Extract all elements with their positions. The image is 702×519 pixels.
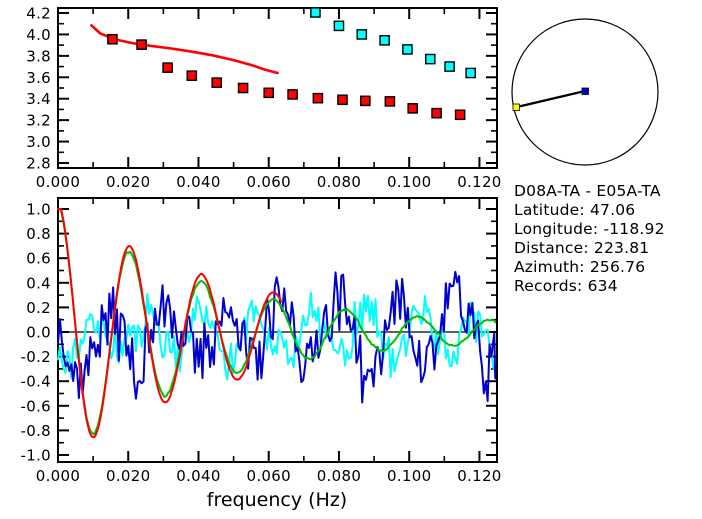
dispersion-axes [58, 8, 497, 168]
correlation-plot: -1.0-0.8-0.6-0.4-0.20.00.20.40.60.81.00.… [21, 198, 502, 511]
data-marker [357, 30, 366, 39]
blue-correlation-trace [58, 272, 495, 403]
data-marker [108, 35, 117, 44]
latitude-row: Latitude: 47.06 [514, 201, 635, 219]
data-marker [403, 45, 412, 54]
x-tick-label: 0.020 [106, 173, 150, 191]
data-marker [338, 95, 347, 104]
data-marker [264, 88, 273, 97]
azimuth-diagram [512, 19, 658, 165]
data-marker [187, 71, 196, 80]
y-tick-label: 0.4 [26, 274, 51, 292]
x-tick-label: 0.040 [176, 467, 220, 485]
y-tick-label: 0.2 [26, 299, 51, 317]
data-marker [238, 83, 247, 92]
y-tick-label: 2.8 [26, 155, 51, 173]
data-marker [466, 68, 475, 77]
x-tick-label: 0.100 [387, 173, 431, 191]
x-tick-label: 0.000 [36, 467, 80, 485]
y-tick-label: 0.8 [26, 225, 51, 243]
distance-row: Distance: 223.81 [514, 239, 649, 257]
azimuth-row: Azimuth: 256.76 [514, 258, 645, 276]
y-tick-label: 3.0 [26, 133, 51, 151]
data-marker [426, 54, 435, 63]
data-marker [212, 78, 221, 87]
y-tick-label: 3.6 [26, 69, 51, 87]
data-marker [334, 21, 343, 30]
y-tick-label: -0.8 [21, 422, 51, 440]
y-tick-label: 3.8 [26, 47, 51, 65]
y-tick-label: 3.4 [26, 90, 51, 108]
station-pair-title: D08A-TA - E05A-TA [514, 182, 661, 200]
dispersion-frame [58, 8, 497, 168]
dispersion-data-points [108, 8, 475, 120]
figure-canvas: 2.83.03.23.43.63.84.04.20.0000.0200.0400… [0, 0, 702, 519]
reference-dispersion-curve [91, 25, 277, 73]
x-axis-label: frequency (Hz) [207, 489, 347, 511]
plot-page: 2.83.03.23.43.63.84.04.20.0000.0200.0400… [0, 0, 702, 519]
x-tick-label: 0.080 [317, 173, 361, 191]
x-tick-label: 0.040 [176, 173, 220, 191]
y-tick-label: 0.6 [26, 250, 51, 268]
dispersion-plot: 2.83.03.23.43.63.84.04.20.0000.0200.0400… [26, 5, 501, 192]
x-tick-label: 0.000 [36, 173, 80, 191]
x-tick-label: 0.120 [457, 467, 501, 485]
data-marker [445, 62, 454, 71]
correlation-traces [58, 209, 495, 437]
x-tick-label: 0.020 [106, 467, 150, 485]
y-tick-label: -0.6 [21, 397, 51, 415]
dispersion-reference-curve [91, 25, 277, 73]
y-tick-label: 4.2 [26, 5, 51, 23]
data-marker [163, 63, 172, 72]
remote-station-dot [513, 104, 520, 111]
y-tick-label: 4.0 [26, 26, 51, 44]
y-tick-label: 1.0 [26, 201, 51, 219]
x-tick-label: 0.060 [246, 467, 290, 485]
x-tick-label: 0.060 [246, 173, 290, 191]
data-marker [313, 94, 322, 103]
longitude-row: Longitude: -118.92 [514, 220, 665, 238]
x-tick-label: 0.080 [317, 467, 361, 485]
center-station-dot [582, 88, 589, 95]
x-tick-label: 0.120 [457, 173, 501, 191]
data-marker [432, 109, 441, 118]
y-tick-label: -0.4 [21, 373, 51, 391]
data-marker [288, 90, 297, 99]
y-tick-label: 0.0 [26, 324, 51, 342]
records-row: Records: 634 [514, 277, 618, 295]
y-tick-label: -0.2 [21, 348, 51, 366]
data-marker [408, 104, 417, 113]
x-tick-label: 0.100 [387, 467, 431, 485]
data-marker [456, 110, 465, 119]
info-panel: D08A-TA - E05A-TA Latitude: 47.06 Longit… [514, 182, 665, 295]
data-marker [385, 97, 394, 106]
data-marker [361, 96, 370, 105]
station-path-line [517, 91, 585, 107]
y-tick-label: 3.2 [26, 112, 51, 130]
data-marker [311, 8, 320, 17]
data-marker [380, 36, 389, 45]
y-tick-label: -1.0 [21, 447, 51, 465]
data-marker [137, 40, 146, 49]
